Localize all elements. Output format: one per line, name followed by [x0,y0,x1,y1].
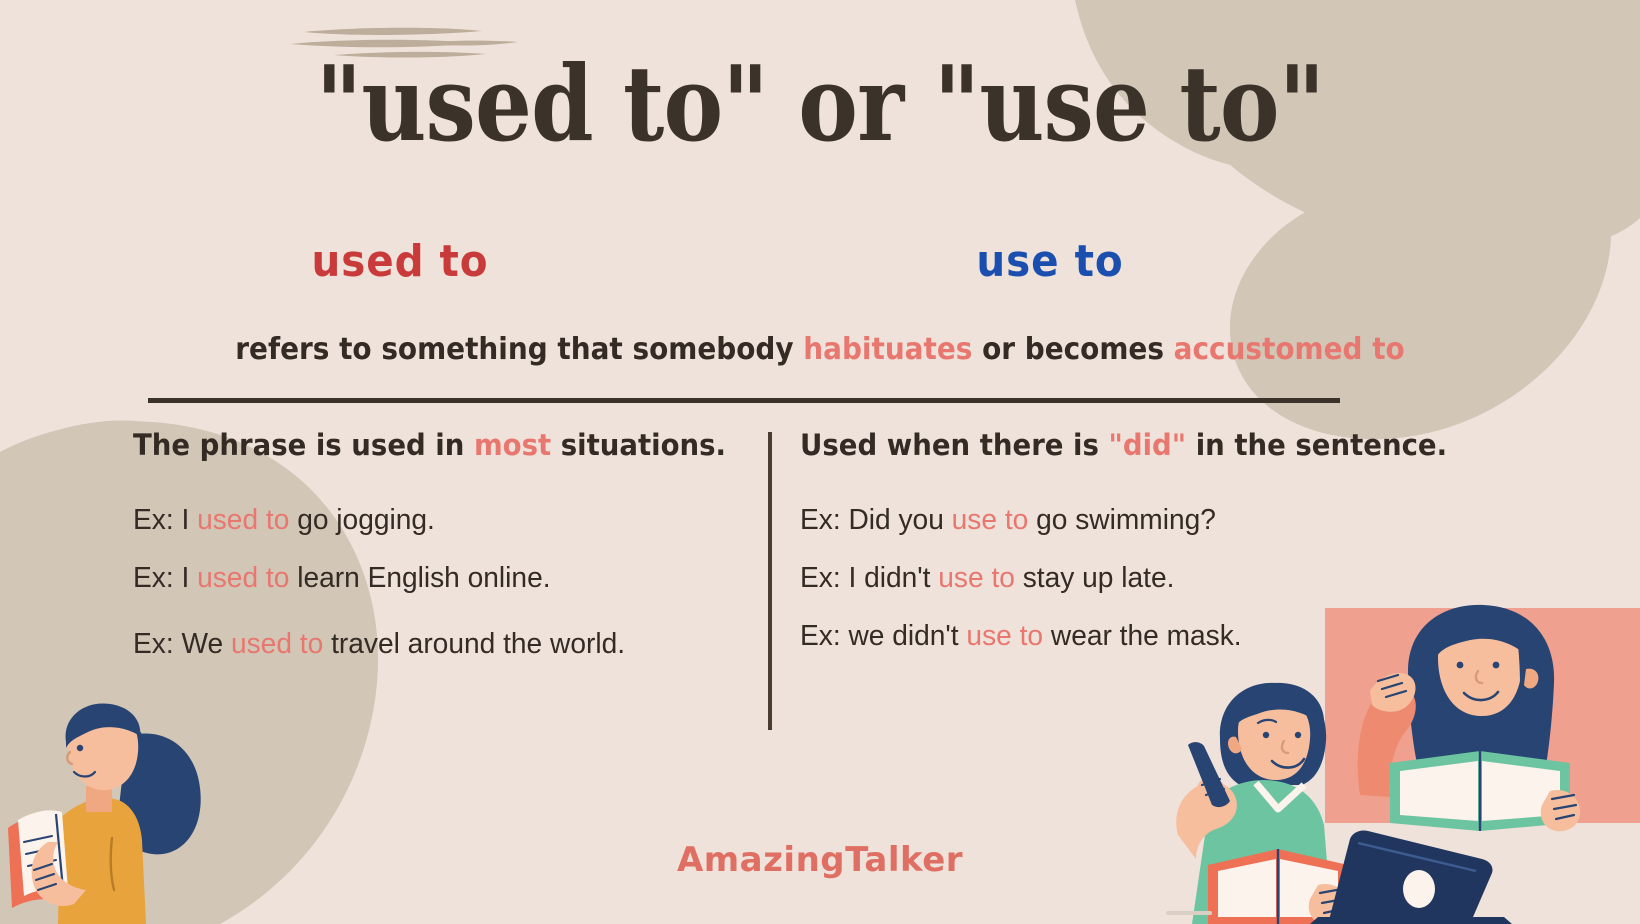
list-item: Ex: I used to go jogging. [133,506,734,535]
list-item: Ex: Did you use to go swimming? [800,506,1460,535]
example-prefix: Ex: Did you [800,504,952,536]
right-heading-part-2: in the sentence. [1186,428,1447,462]
example-prefix: Ex: We [133,628,231,660]
example-highlight: use to [952,504,1029,536]
horizontal-divider [148,398,1340,403]
list-item: Ex: I didn't use to stay up late. [800,564,1460,593]
illustration-girl-reading-icon [0,690,240,924]
example-highlight: used to [197,504,289,536]
right-heading-highlight-did: "did" [1108,428,1186,462]
left-heading-part-2: situations. [551,428,726,462]
illustration-students-studying-icon [1060,595,1640,924]
left-column: The phrase is used in most situations. E… [133,430,753,696]
example-suffix: travel around the world. [323,628,625,660]
example-prefix: Ex: I [133,562,197,594]
list-item: Ex: We used to travel around the world. [133,622,734,667]
list-item: Ex: I used to learn English online. [133,564,734,593]
heading-used-to: used to [299,236,501,287]
example-prefix: Ex: we didn't [800,620,966,652]
subtitle-part-2: or becomes [972,332,1173,367]
example-prefix: Ex: I didn't [800,562,938,594]
subtitle-definition: refers to something that somebody habitu… [57,332,1582,367]
right-column-heading: Used when there is "did" in the sentence… [800,430,1446,462]
heading-use-to: use to [963,236,1138,287]
example-suffix: stay up late. [1015,562,1175,594]
example-highlight: use to [966,620,1043,652]
example-highlight: used to [197,562,289,594]
example-suffix: go swimming? [1028,504,1216,536]
left-heading-highlight-most: most [474,428,551,462]
example-suffix: go jogging. [289,504,434,536]
blob-top-right-lobe [1230,152,1611,439]
left-column-heading: The phrase is used in most situations. [133,430,722,462]
example-highlight: used to [231,628,323,660]
example-suffix: learn English online. [289,562,550,594]
subtitle-part-1: refers to something that somebody [235,332,803,367]
left-examples-list: Ex: I used to go jogging. Ex: I used to … [133,506,753,667]
subtitle-highlight-accustomed: accustomed to [1174,332,1405,367]
left-heading-part-1: The phrase is used in [133,428,474,462]
subtitle-highlight-habituates: habituates [803,332,972,367]
vertical-divider [768,432,772,730]
right-heading-part-1: Used when there is [800,428,1108,462]
page-title: "used to" or "use to" [115,42,1525,165]
infographic-canvas: "used to" or "use to" used to use to ref… [0,0,1640,924]
example-highlight: use to [938,562,1015,594]
example-prefix: Ex: I [133,504,197,536]
